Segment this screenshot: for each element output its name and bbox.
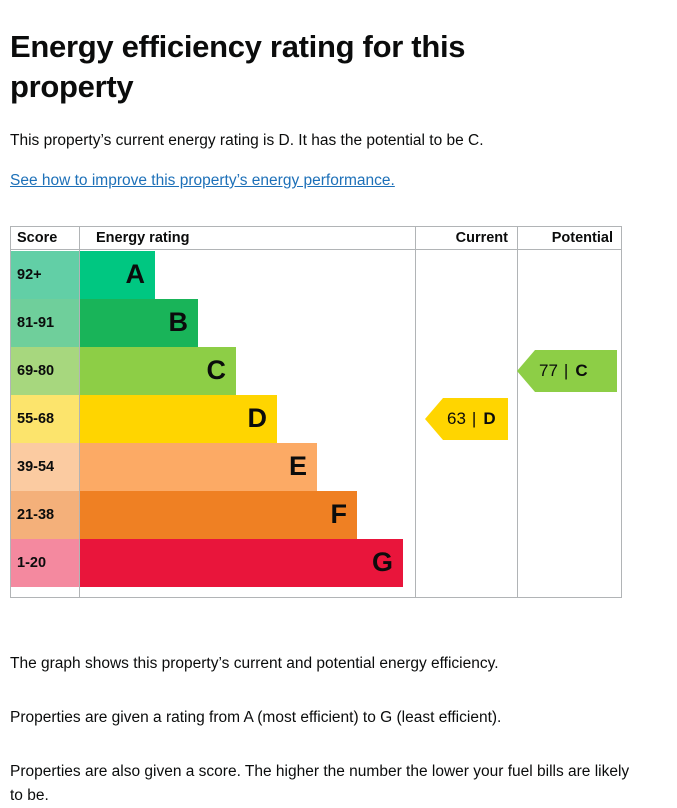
band-score-range: 55-68	[11, 395, 79, 443]
band-letter-a: A	[126, 251, 146, 299]
chart-header-row: Score Energy rating Current Potential	[11, 227, 621, 250]
band-letter-g: G	[372, 539, 393, 587]
band-score-range: 1-20	[11, 539, 79, 587]
rating-band-row: 55-68D	[11, 395, 621, 443]
potential-rating-pointer: 77|C	[517, 350, 617, 392]
pointer-separator: |	[558, 350, 575, 392]
rating-band-row: 1-20G	[11, 539, 621, 587]
pointer-band: D	[483, 409, 495, 428]
energy-rating-chart: Score Energy rating Current Potential 92…	[10, 226, 622, 598]
band-bar-c: C	[80, 347, 236, 395]
band-score-range: 21-38	[11, 491, 79, 539]
intro-paragraph: This property’s current energy rating is…	[10, 130, 650, 152]
improve-energy-performance-link[interactable]: See how to improve this property’s energ…	[10, 170, 395, 192]
pointer-band: C	[575, 361, 587, 380]
band-score-range: 81-91	[11, 299, 79, 347]
band-bar-f: F	[80, 491, 357, 539]
band-letter-c: C	[207, 347, 227, 395]
epc-page: Energy efficiency rating for this proper…	[0, 0, 677, 805]
band-bar-d: D	[80, 395, 277, 443]
band-bar-b: B	[80, 299, 198, 347]
header-current: Current	[415, 227, 517, 249]
band-score-range: 39-54	[11, 443, 79, 491]
rating-band-row: 21-38F	[11, 491, 621, 539]
band-letter-b: B	[169, 299, 189, 347]
header-score: Score	[17, 227, 79, 249]
band-score-range: 92+	[11, 251, 79, 299]
rating-band-row: 39-54E	[11, 443, 621, 491]
band-bar-g: G	[80, 539, 403, 587]
header-potential: Potential	[517, 227, 622, 249]
footer-paragraph-1: The graph shows this property’s current …	[10, 652, 635, 676]
rating-band-row: 81-91B	[11, 299, 621, 347]
footer-paragraph-2: Properties are given a rating from A (mo…	[10, 706, 635, 730]
rating-band-row: 92+A	[11, 251, 621, 299]
band-score-range: 69-80	[11, 347, 79, 395]
band-letter-f: F	[331, 491, 348, 539]
pointer-separator: |	[466, 398, 483, 440]
band-letter-e: E	[289, 443, 307, 491]
header-energy-rating: Energy rating	[89, 227, 289, 249]
page-title: Energy efficiency rating for this proper…	[10, 27, 570, 107]
band-letter-d: D	[248, 395, 268, 443]
footer-paragraph-3: Properties are also given a score. The h…	[10, 760, 635, 808]
pointer-score: 77	[539, 361, 558, 380]
band-bar-a: A	[80, 251, 155, 299]
pointer-score: 63	[447, 409, 466, 428]
band-bar-e: E	[80, 443, 317, 491]
